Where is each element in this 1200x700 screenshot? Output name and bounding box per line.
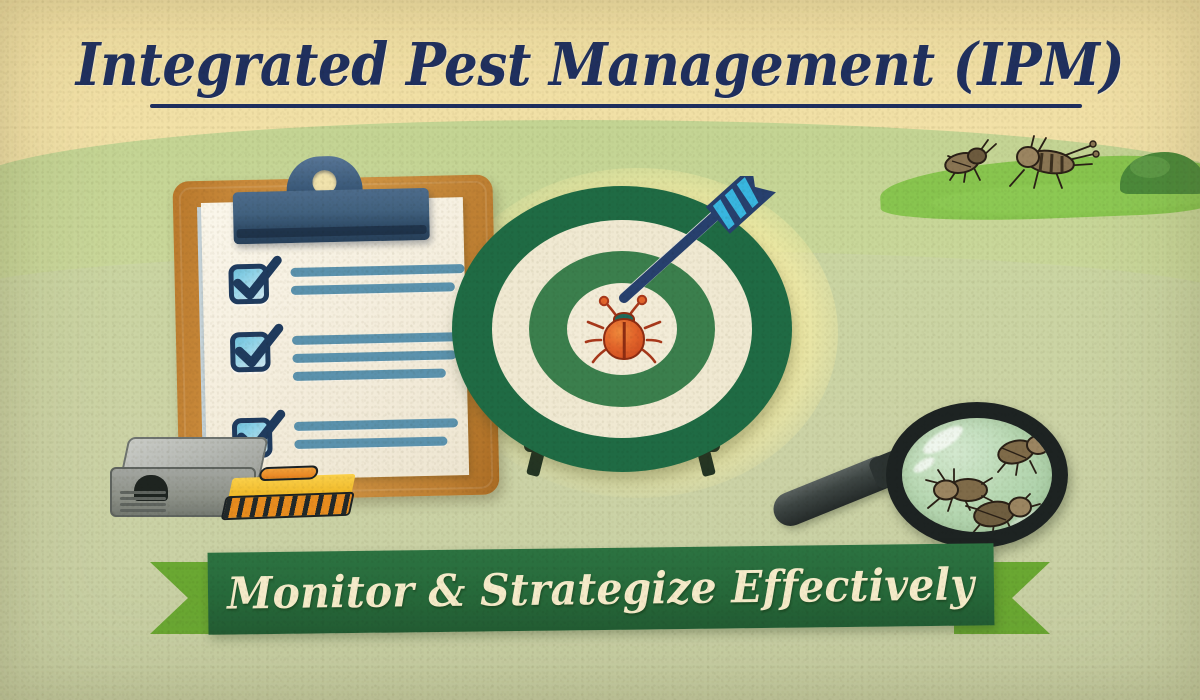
checklist-line-group [294,413,469,458]
magnifier-lens [886,402,1068,548]
sticky-trap-tray [222,474,355,526]
lens-glint [919,421,966,459]
checklist-line [292,350,456,363]
title-underline [150,104,1082,108]
checklist-line [294,436,447,448]
checklist-line [292,332,466,345]
checklist-line [291,282,455,295]
sticky-trap-handle [258,465,319,481]
banner-text: Monitor & Strategize Effectively [227,559,975,619]
checklist-row [228,259,465,305]
dartboard-target [452,186,792,478]
bait-station-vent [120,491,166,494]
bait-station-vent [120,503,166,506]
clipboard-clip [232,154,430,256]
checklist-line [293,369,446,381]
checklist-line [294,418,458,431]
ribbon-body: Monitor & Strategize Effectively [208,543,995,635]
checklist-line-group [292,327,467,390]
page-title: Integrated Pest Management (IPM) [0,30,1200,99]
lens-insect-icon [986,430,1064,478]
title-text: Integrated Pest Management (IPM) [60,30,1140,99]
arrow-icon [602,176,782,356]
bait-station-vent [120,497,166,500]
checklist-line [290,264,464,277]
ipm-poster: Integrated Pest Management (IPM) [0,0,1200,700]
bait-station-vent [120,509,166,512]
banner-ribbon: Monitor & Strategize Effectively [150,548,1050,646]
checkbox-checked-icon[interactable] [230,331,271,372]
clipboard-clip-bar [233,188,430,244]
magnifier-handle [768,451,901,531]
sticky-trap-rim [221,492,355,520]
checklist-line-group [290,259,465,304]
checkbox-checked-icon[interactable] [228,264,269,305]
lens-insect-icon [962,490,1048,540]
magnifying-glass [768,404,1068,554]
checklist-row [230,327,467,391]
background-insects [938,130,1128,200]
